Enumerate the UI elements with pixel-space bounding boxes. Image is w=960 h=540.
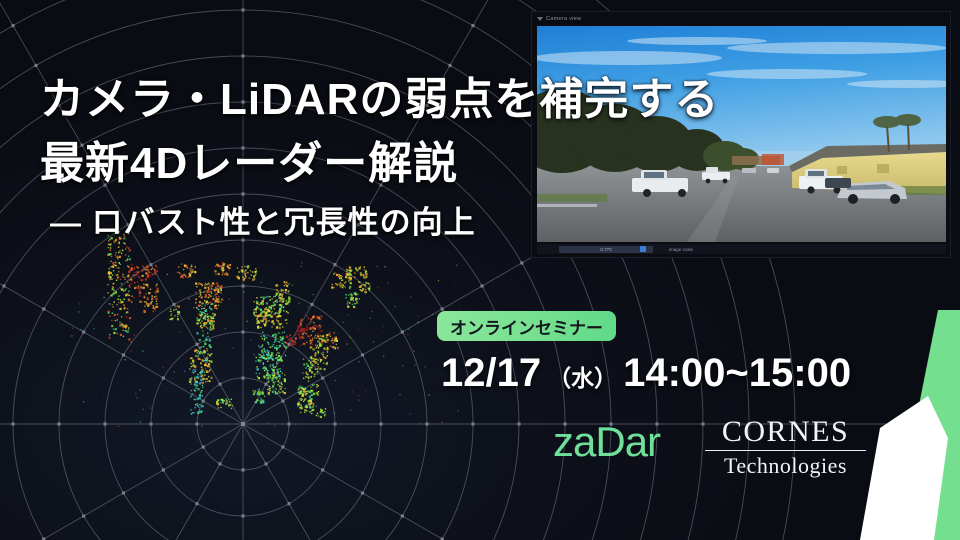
- white-corner-shape: [860, 396, 948, 540]
- image-scale-label: image scale: [669, 247, 693, 252]
- schedule-line: 12/17 （水） 14:00~15:00: [441, 351, 851, 396]
- headline-line-1: カメラ・LiDARの弱点を補完する: [40, 72, 860, 128]
- zadar-logo: zaDar: [553, 421, 660, 463]
- slider-knob[interactable]: [640, 246, 646, 252]
- slider-value: 0.773: [600, 247, 611, 252]
- seminar-weekday: （水）: [548, 359, 617, 393]
- seminar-time: 14:00~15:00: [623, 351, 851, 396]
- headline-block: カメラ・LiDARの弱点を補完する 最新4Dレーダー解説 ― ロバスト性と冗長性…: [40, 72, 860, 244]
- seminar-date: 12/17: [441, 351, 541, 396]
- camera-panel-controls[interactable]: 0.773 image scale: [537, 244, 946, 254]
- seminar-banner: Camera view: [0, 0, 960, 540]
- headline-line-2: 最新4Dレーダー解説: [40, 136, 860, 192]
- chevron-down-icon: [537, 17, 543, 21]
- camera-panel-titlebar: Camera view: [532, 12, 950, 25]
- corner-accent-decoration: [830, 310, 960, 540]
- online-seminar-badge: オンラインセミナー: [437, 311, 616, 341]
- badge-label: オンラインセミナー: [450, 314, 603, 339]
- headline-line-3: ― ロバスト性と冗長性の向上: [40, 202, 860, 244]
- image-scale-slider[interactable]: 0.773: [559, 246, 653, 253]
- camera-panel-title: Camera view: [546, 16, 581, 22]
